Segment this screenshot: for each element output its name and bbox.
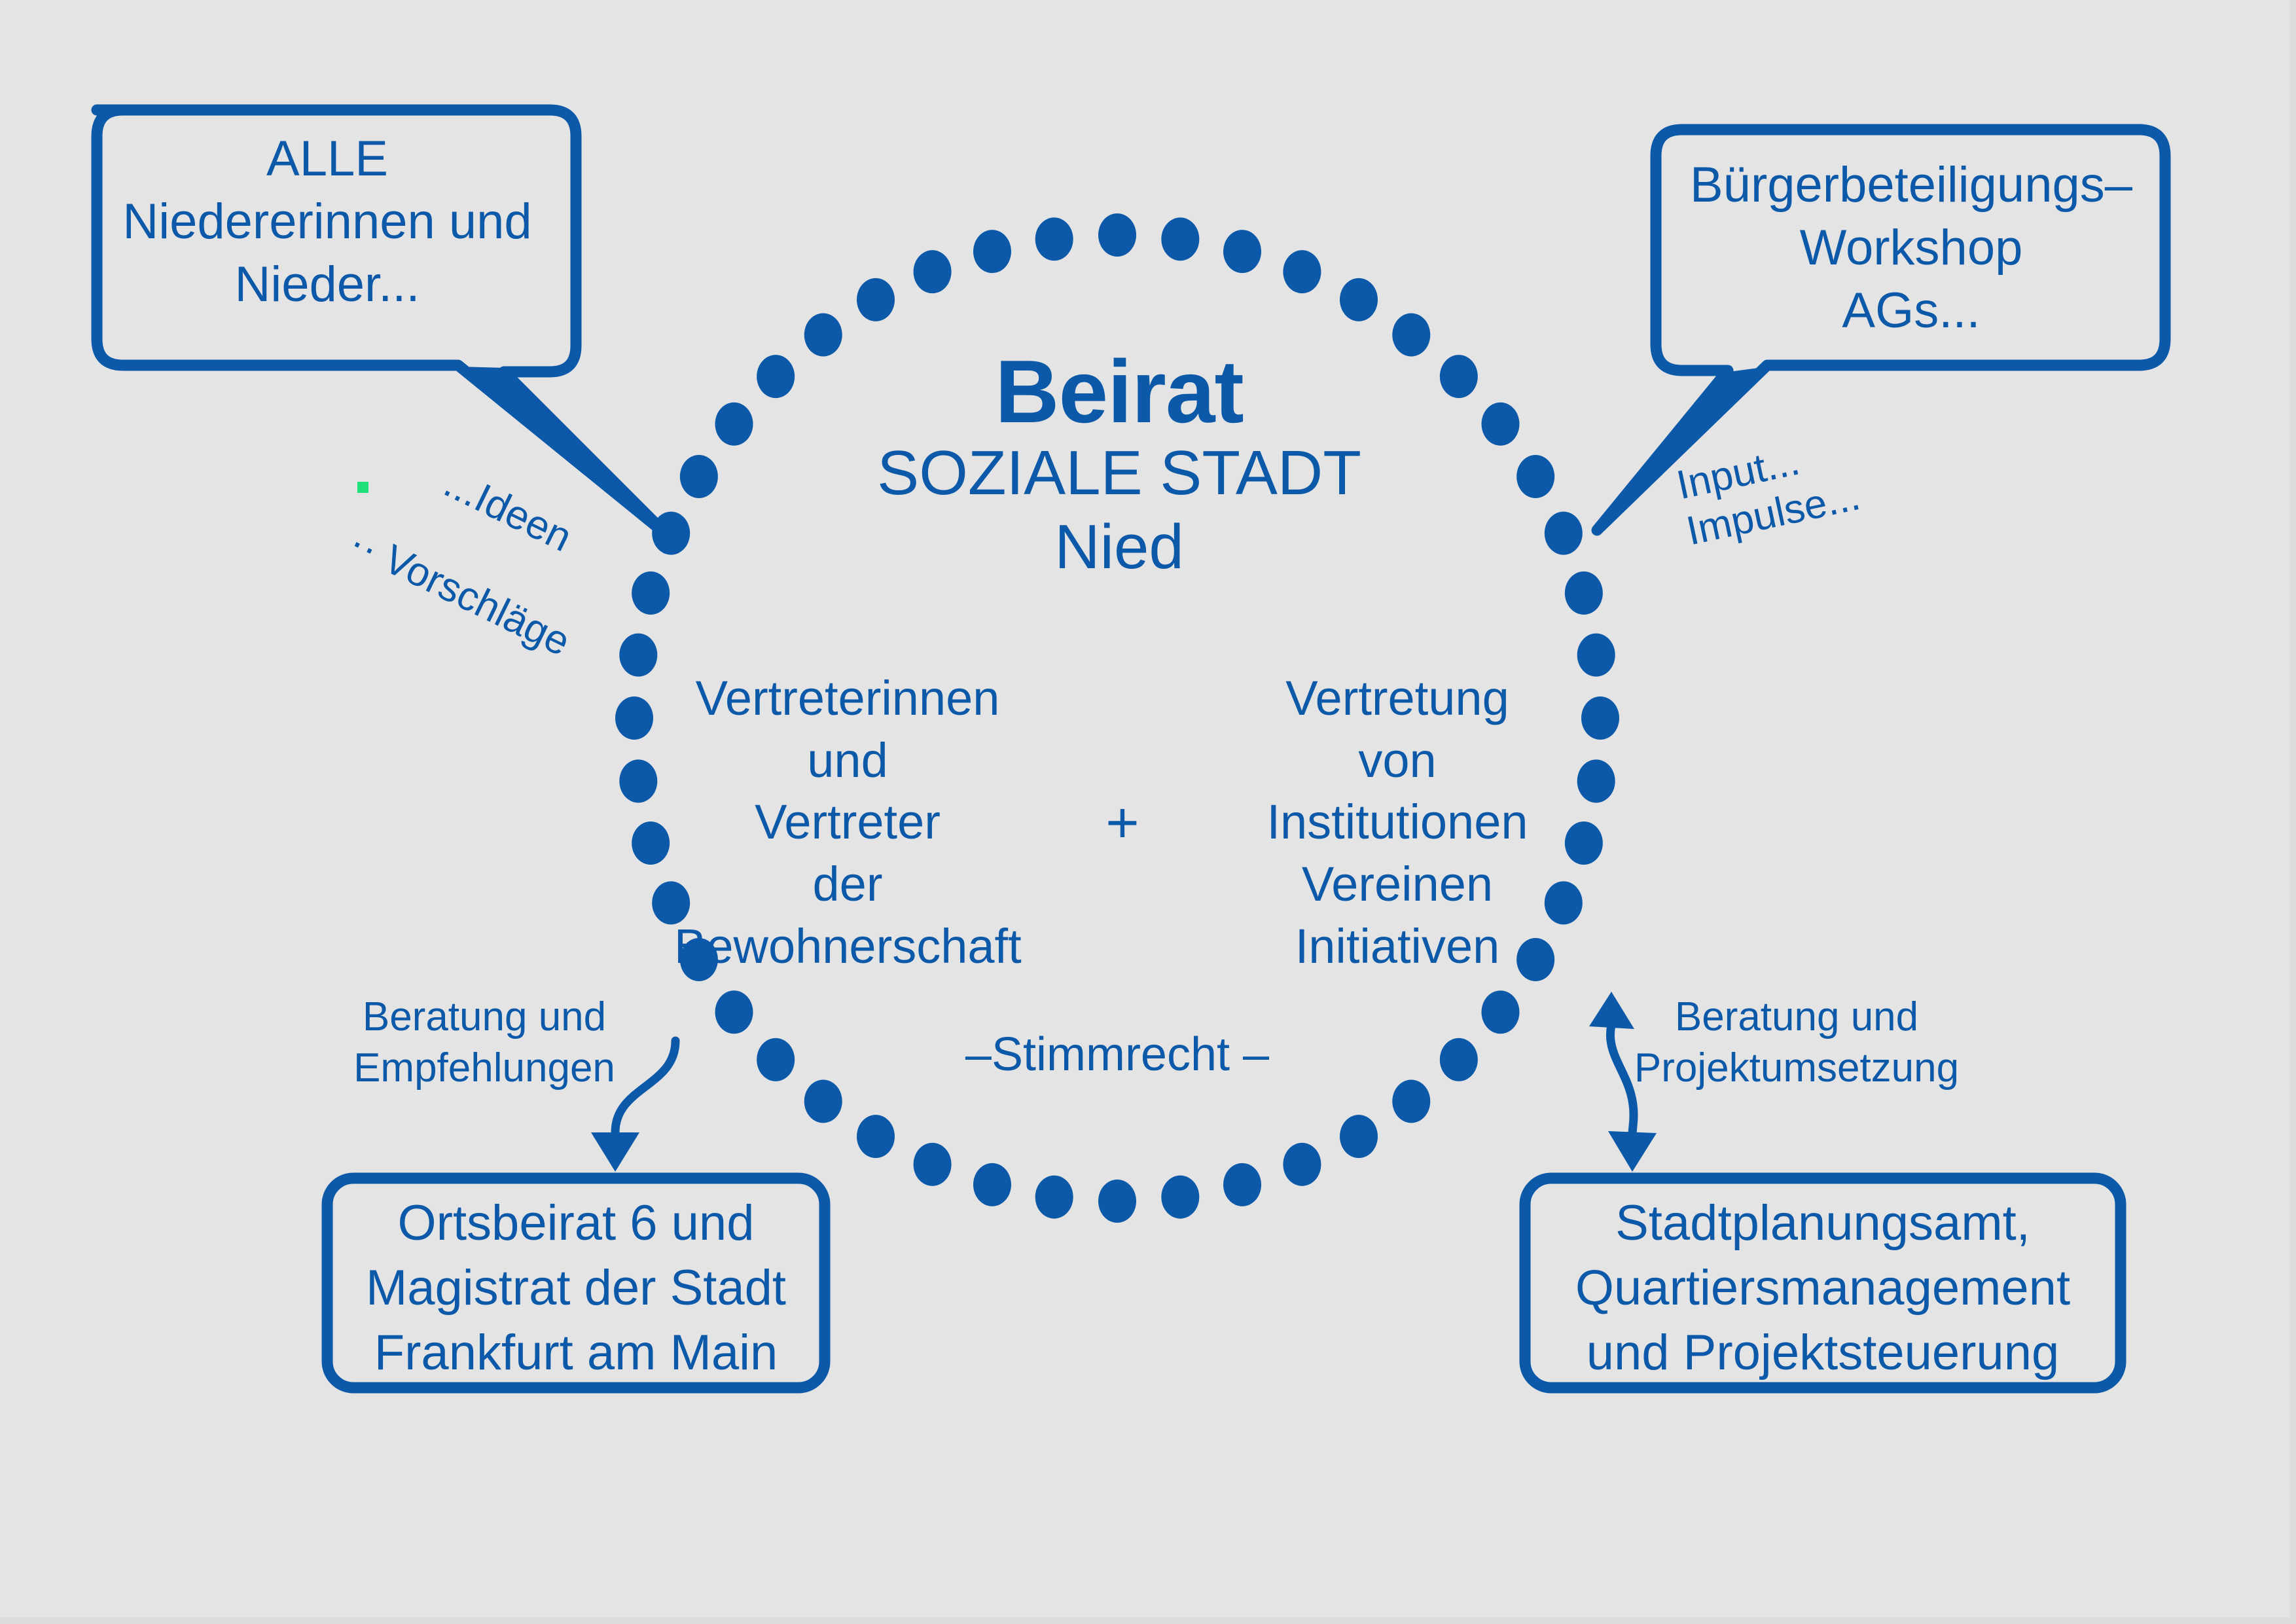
circle-dot [1581,696,1619,740]
circle-dot [1577,634,1615,677]
circle-dot [1223,1163,1261,1206]
column-right-line-2: Institutionen [1224,791,1571,854]
box-br-line-1: Quartiersmanagement [1532,1256,2114,1321]
diagram-canvas: Beirat SOZIALE STADT Nied Vertreterinnen… [0,0,2296,1624]
circle-dot [804,1079,842,1123]
circle-dot [1545,512,1583,555]
circle-dot [1283,250,1321,293]
box-bl-line-1: Magistrat der Stadt [334,1256,818,1321]
circle-dot [1577,759,1615,803]
circle-dot [1035,217,1073,261]
column-right-line-1: von [1224,730,1571,792]
circle-dot [914,250,952,293]
center-title-group: Beirat SOZIALE STADT Nied [726,347,1512,585]
circle-dot [1098,213,1136,257]
circle-dot [1516,455,1554,498]
bubble-tl-line-1: Niedererinnen und [92,190,563,253]
circle-dot [632,571,670,615]
circle-dot [1392,1079,1430,1123]
arrow-down-head-icon [591,1132,639,1172]
annotation-beratung-empfehlungen: Beratung und Empfehlungen [340,992,628,1093]
center-subtitle-line2: Nied [726,510,1512,584]
column-left-line-3: der [674,854,1021,916]
circle-dot [1161,1176,1199,1219]
column-left-line-1: und [674,730,1021,792]
column-left-line-2: Vertreter [674,791,1021,854]
annotation-beratung-projektumsetzung: Beratung und Projektumsetzung [1633,992,1960,1093]
circle-dot [973,1163,1011,1206]
double-arrow-icon [1610,1015,1634,1149]
double-arrow-head-up-icon [1589,992,1634,1029]
circle-dot [1098,1180,1136,1223]
circle-dot [857,278,895,321]
circle-dot [1340,1115,1378,1158]
center-columns: Vertreterinnen und Vertreter der Bewohne… [674,668,1571,978]
circle-dot [632,821,670,865]
annot-br-line-1: Projektumsetzung [1633,1043,1960,1094]
annot-bl-line-0: Beratung und [340,992,628,1043]
circle-dot [1283,1143,1321,1186]
circle-dot [680,455,718,498]
circle-dot [1161,217,1199,261]
center-subtitle-line1: SOZIALE STADT [726,436,1512,510]
circle-dot [619,634,657,677]
bubble-tr-line-2: AGs... [1676,280,2147,342]
circle-dot [615,696,653,740]
plus-operator: + [1086,789,1158,856]
circle-dot [973,230,1011,273]
circle-dot [914,1143,952,1186]
circle-dot [857,1115,895,1158]
stimmrecht-label: –Stimmrecht – [725,1028,1510,1081]
column-right-line-3: Vereinen [1224,854,1571,916]
column-right: Vertretung von Institutionen Vereinen In… [1224,668,1571,978]
box-bottom-right-text: Stadtplanungsamt, Quartiersmanagement un… [1532,1191,2114,1385]
box-bl-line-2: Frankfurt am Main [334,1321,818,1386]
circle-dot [1223,230,1261,273]
circle-dot [1035,1176,1073,1219]
bubble-tr-line-1: Workshop [1676,217,2147,280]
bubble-tr-line-0: Bürgerbeteiligungs– [1676,154,2147,217]
box-br-line-2: und Projektsteuerung [1532,1321,2114,1386]
box-bl-line-0: Ortsbeirat 6 und [334,1191,818,1256]
bubble-tl-line-0: ALLE [92,128,563,190]
circle-dot [1340,278,1378,321]
circle-dot [1565,571,1603,615]
annot-bl-line-1: Empfehlungen [340,1043,628,1094]
double-arrow-head-down-icon [1608,1131,1657,1172]
box-br-line-0: Stadtplanungsamt, [1532,1191,2114,1256]
speech-bubble-top-right-text: Bürgerbeteiligungs– Workshop AGs... [1676,154,2147,342]
speech-bubble-top-left-text: ALLE Niedererinnen und Nieder... [92,128,563,316]
column-right-line-0: Vertretung [1224,668,1571,730]
page-title: Beirat [726,347,1512,436]
annot-br-line-0: Beratung und [1633,992,1960,1043]
column-left: Vertreterinnen und Vertreter der Bewohne… [674,668,1021,978]
bubble-tl-line-2: Nieder... [92,253,563,316]
box-bottom-left-text: Ortsbeirat 6 und Magistrat der Stadt Fra… [334,1191,818,1385]
circle-dot [619,759,657,803]
green-square-marker-icon [357,482,368,493]
column-left-line-4: Bewohnerschaft [674,916,1021,978]
column-left-line-0: Vertreterinnen [674,668,1021,730]
column-right-line-4: Initiativen [1224,916,1571,978]
